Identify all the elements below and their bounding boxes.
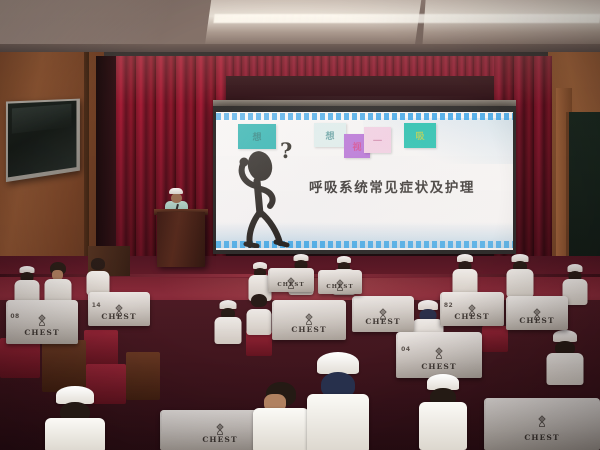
chest-emblem-icon [214,420,226,432]
chest-emblem-icon [377,305,389,317]
presenter-head [171,193,182,203]
chair-cover: 08CHEST [6,300,78,344]
hair [251,294,267,307]
uniform [307,394,369,450]
ceiling-light-strip [213,14,600,23]
slide-note-4: 一 [364,127,391,153]
seat-cushion [0,338,40,378]
chair-brand-text: CHEST [365,317,400,326]
chair-number: 04 [401,346,410,353]
slide-note-label: 视 [352,140,361,153]
uniform [215,317,242,344]
chair-brand-text: CHEST [277,282,304,288]
hair [91,258,105,270]
chest-emblem-icon [36,311,48,323]
uniform [253,408,309,450]
lecture-hall-photo: 想想视一吸 ? 呼吸系统常见症状及护理 [0,0,600,450]
audience-member [214,300,242,344]
uniform [419,402,467,450]
audience-member-foreground [252,382,310,450]
uniform [247,309,272,335]
uniform [547,353,584,385]
chair-brand-text: CHEST [101,312,136,321]
chair-cover: CHEST [352,296,414,332]
chair-number: 82 [444,302,453,309]
chair-number: 08 [10,313,19,320]
lectern-podium [157,212,205,267]
chair-cover: 04CHEST [396,332,482,378]
seat-cushion [482,326,508,352]
chest-emblem-icon [303,310,315,322]
uniform [45,418,105,450]
audience-member [452,254,478,296]
seat-cushion [84,330,118,366]
chest-emblem-icon [433,344,445,356]
slide-note-2: 想 [314,123,346,147]
chair-brand-text: CHEST [326,284,353,290]
chair-brand-text: CHEST [202,435,237,444]
chair-number: 14 [92,302,101,309]
green-chalkboard [566,112,600,260]
audience-member-foreground [418,374,468,450]
question-mark: ? [280,140,292,161]
slide-note-label: 想 [325,129,334,142]
audience-member [506,254,534,298]
audience-member [246,294,272,334]
slide-border-top [216,113,513,120]
chair-cover: 14CHEST [88,292,150,326]
uniform [507,269,534,297]
nurse-cap-icon [169,188,183,194]
chair-brand-text: CHEST [519,316,554,325]
chair-cover: CHEST [506,296,568,330]
audience-member [546,330,584,384]
chair-cover: CHEST [268,268,314,292]
armrest [126,352,160,400]
audience-member [86,258,110,296]
chair-brand-text: CHEST [421,362,456,371]
audience-member-foreground [44,386,106,450]
presentation-slide: 想想视一吸 ? 呼吸系统常见症状及护理 [216,112,513,250]
chair-cover: CHEST [484,398,600,450]
ceiling-light-cove-left [205,0,421,46]
chest-emblem-icon [536,412,548,424]
armrest [42,340,86,392]
chair-brand-text: CHEST [454,312,489,321]
chair-cover: CHEST [318,270,362,294]
audience-member-foreground [306,352,370,450]
nurse-cap-icon [317,352,359,374]
chair-cover: 82CHEST [440,292,504,326]
ceiling-light-cove-right [422,0,600,46]
chair-brand-text: CHEST [24,328,59,337]
chair-brand-text: CHEST [291,325,326,334]
slide-note-label: 吸 [415,129,424,142]
chair-brand-text: CHEST [524,433,559,442]
slide-note-5: 吸 [404,123,436,148]
chair-cover: CHEST [272,300,346,340]
ceiling-left-section [0,0,230,50]
slide-title: 呼吸系统常见症状及护理 [282,176,502,196]
slide-note-label: 一 [373,134,382,147]
